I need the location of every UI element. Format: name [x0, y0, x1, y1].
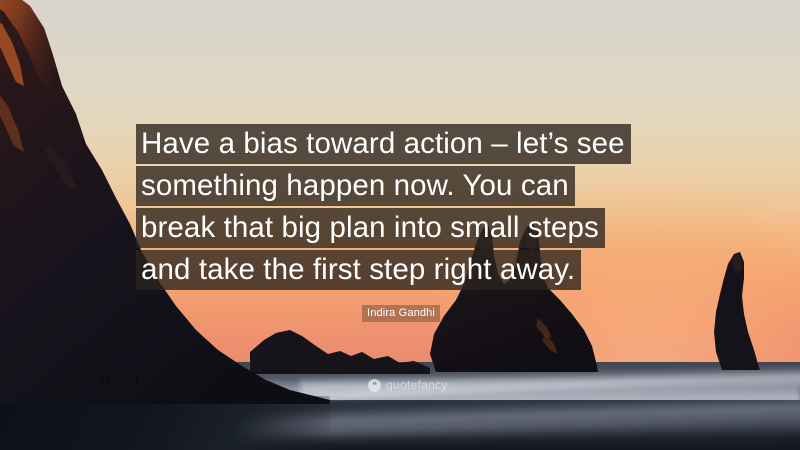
dark-sand-foreground	[0, 396, 330, 450]
quote-text-block: Have a bias toward action – let’s see so…	[136, 124, 676, 292]
distant-people-silhouettes	[40, 366, 270, 388]
right-sea-stack-silhouette	[700, 252, 770, 370]
quote-author: Indira Gandhi	[362, 305, 440, 322]
quote-line-3: break that big plan into small steps	[136, 208, 605, 248]
quote-line-1: Have a bias toward action – let’s see	[136, 124, 631, 164]
quote-poster: Have a bias toward action – let’s see so…	[0, 0, 800, 450]
quote-mark-badge-icon: “	[368, 379, 381, 392]
watermark[interactable]: “ quotefancy	[368, 379, 448, 392]
watermark-label: quotefancy	[386, 379, 448, 392]
quote-line-2: something happen now. You can	[136, 166, 575, 206]
quote-line-4: and take the first step right away.	[136, 250, 581, 290]
